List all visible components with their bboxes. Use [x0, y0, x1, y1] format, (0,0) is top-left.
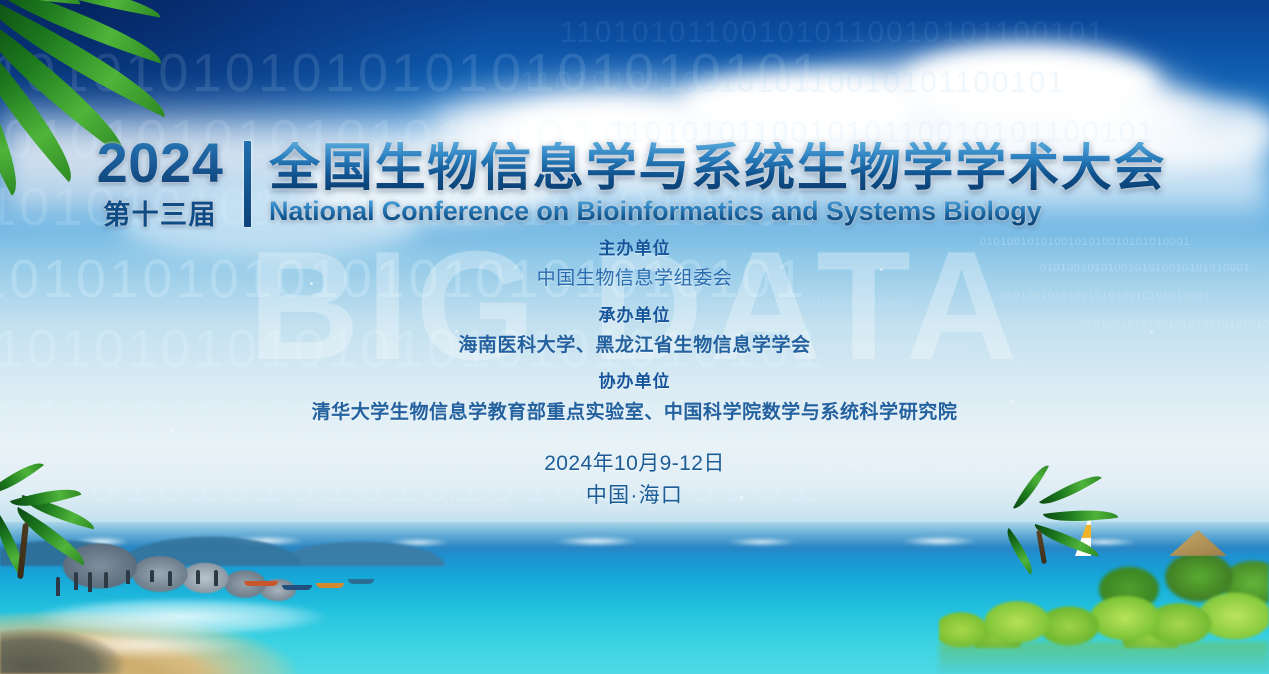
beach-person — [196, 570, 200, 584]
title-english: National Conference on Bioinformatics an… — [269, 197, 1166, 225]
title-divider — [244, 141, 251, 227]
title-chinese: 全国生物信息学与系统生物学学术大会 — [269, 142, 1166, 194]
conference-location: 中国·海口 — [0, 480, 1269, 512]
organizer-value-coorganizer: 清华大学生物信息学教育部重点实验室、中国科学院数学与系统科学研究院 — [0, 396, 1269, 429]
spacer — [0, 296, 1269, 303]
year-edition-block: 2024 第十三届 — [82, 136, 238, 232]
sparkle-dot — [170, 430, 173, 433]
conference-banner: 1010101010101010101010101 10101010101010… — [0, 0, 1269, 674]
date-location-block: 2024年10月9-12日 中国·海口 — [0, 448, 1269, 511]
beach-scene — [0, 499, 470, 674]
beach-boat — [348, 579, 374, 584]
island-water-reflection — [939, 642, 1269, 674]
beach-boat — [282, 585, 312, 590]
organizer-value-host: 中国生物信息学组委会 — [0, 262, 1269, 295]
beach-person — [56, 577, 60, 596]
organizer-label-coorganizer: 协办单位 — [0, 369, 1269, 395]
conference-date: 2024年10月9-12日 — [0, 448, 1269, 480]
banner-title-row: 2024 第十三届 全国生物信息学与系统生物学学术大会 National Con… — [82, 136, 1166, 232]
foreground-rock — [0, 604, 175, 674]
title-names: 全国生物信息学与系统生物学学术大会 National Conference on… — [269, 142, 1166, 225]
beach-boat — [316, 583, 344, 588]
edition-label: 第十三届 — [103, 193, 216, 232]
organizer-label-host: 主办单位 — [0, 236, 1269, 262]
beach-person — [168, 571, 172, 586]
beach-person — [150, 570, 154, 582]
tropical-island — [939, 489, 1269, 674]
beach-person — [214, 570, 218, 586]
beach-person — [126, 570, 130, 584]
spacer — [0, 362, 1269, 369]
organizer-label-organizer: 承办单位 — [0, 303, 1269, 329]
beach-boat — [244, 581, 278, 586]
organizer-value-organizer: 海南医科大学、黑龙江省生物信息学学会 — [0, 329, 1269, 362]
organizer-info-block: 主办单位 中国生物信息学组委会 承办单位 海南医科大学、黑龙江省生物信息学学会 … — [0, 236, 1269, 429]
island-foliage-front — [939, 538, 1269, 648]
year-label: 2024 — [97, 136, 224, 191]
cloud-puff-b — [680, 70, 920, 140]
